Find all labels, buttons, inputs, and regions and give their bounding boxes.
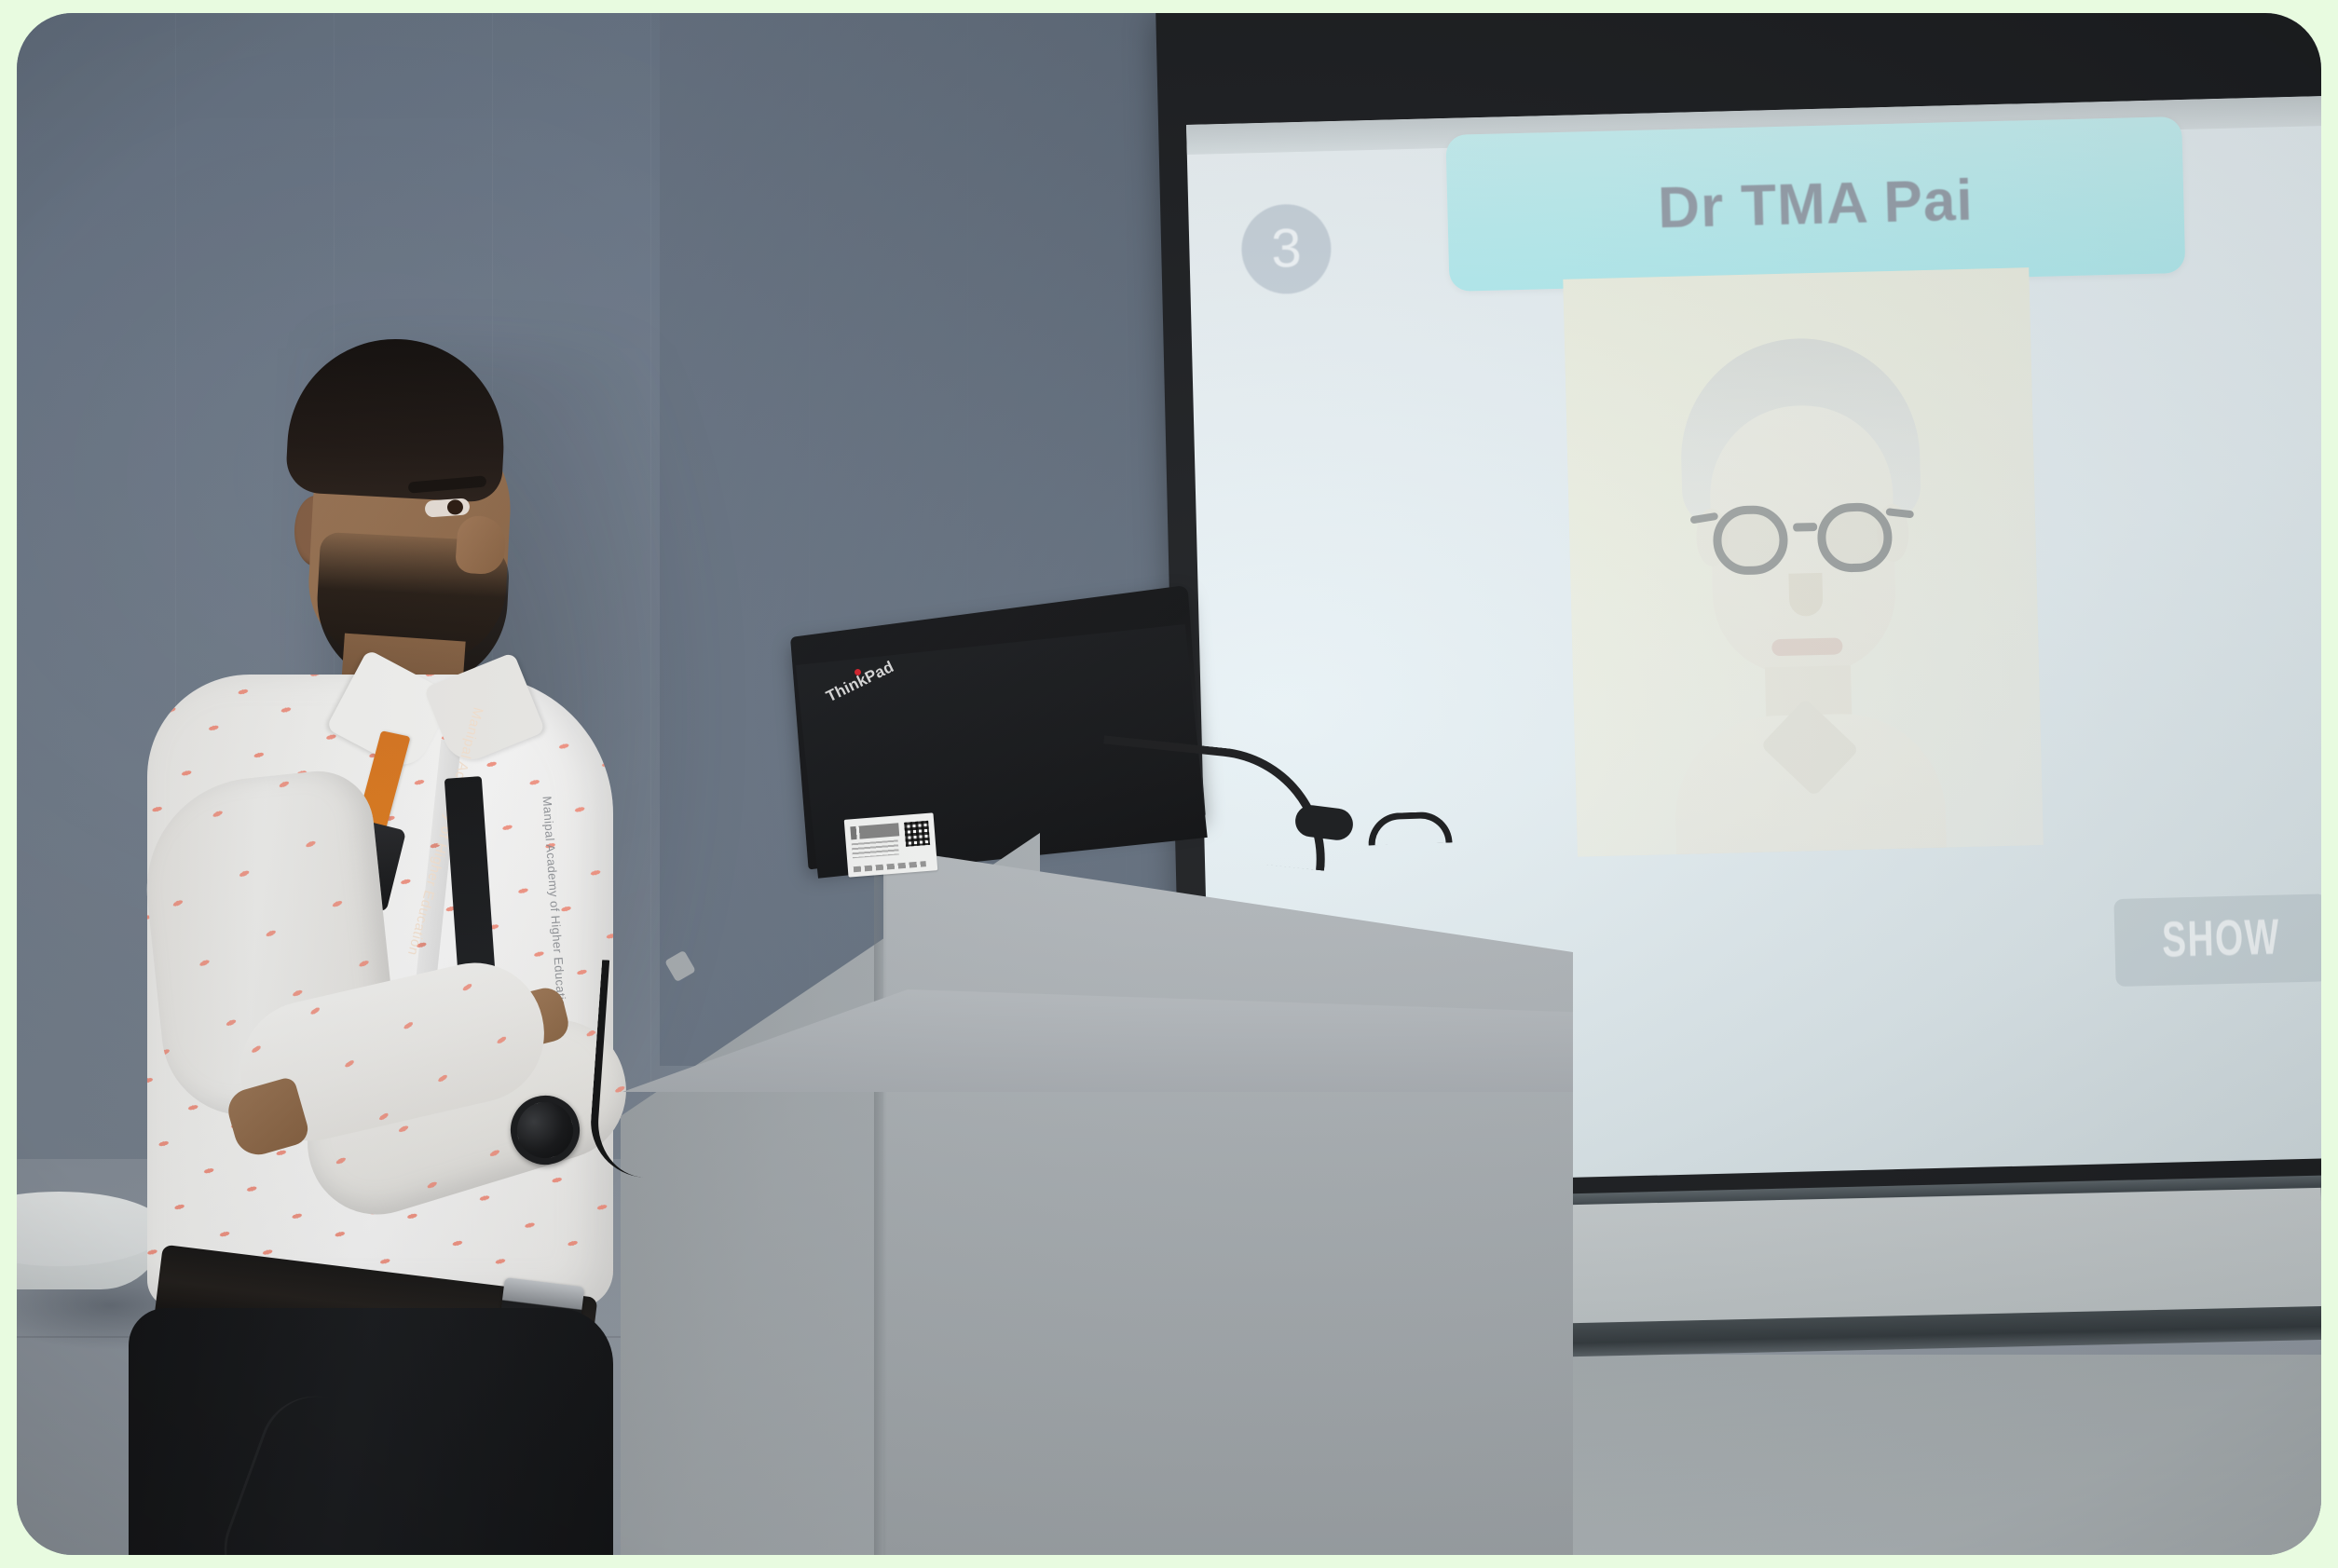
- slide-title-text: Dr TMA Pai: [1657, 167, 1974, 241]
- sticker-footer-text: [854, 861, 926, 872]
- podium-edge: [874, 837, 887, 1555]
- slide-number-badge: 3: [1240, 203, 1332, 294]
- podium-asset-sticker: [844, 812, 938, 877]
- projector-washout-overlay: [1563, 267, 2044, 856]
- sticker-text-lines: [852, 839, 899, 858]
- presentation-photograph: 3 Dr TMA Pai: [17, 13, 2321, 1555]
- sticker-logo: [850, 823, 899, 839]
- microphone-cable: [587, 960, 714, 1181]
- podium-front-face: [883, 833, 1573, 1555]
- presenter-eye: [424, 498, 470, 517]
- show-badge-text: SHOW: [2161, 908, 2280, 969]
- slide-portrait-image: [1563, 267, 2044, 856]
- photo-frame: 3 Dr TMA Pai: [0, 0, 2338, 1568]
- show-badge: SHOW: [2113, 893, 2321, 987]
- slide-number-text: 3: [1271, 222, 1303, 277]
- slide-title-banner: Dr TMA Pai: [1445, 116, 2185, 292]
- sticker-qr-code-icon: [904, 821, 930, 847]
